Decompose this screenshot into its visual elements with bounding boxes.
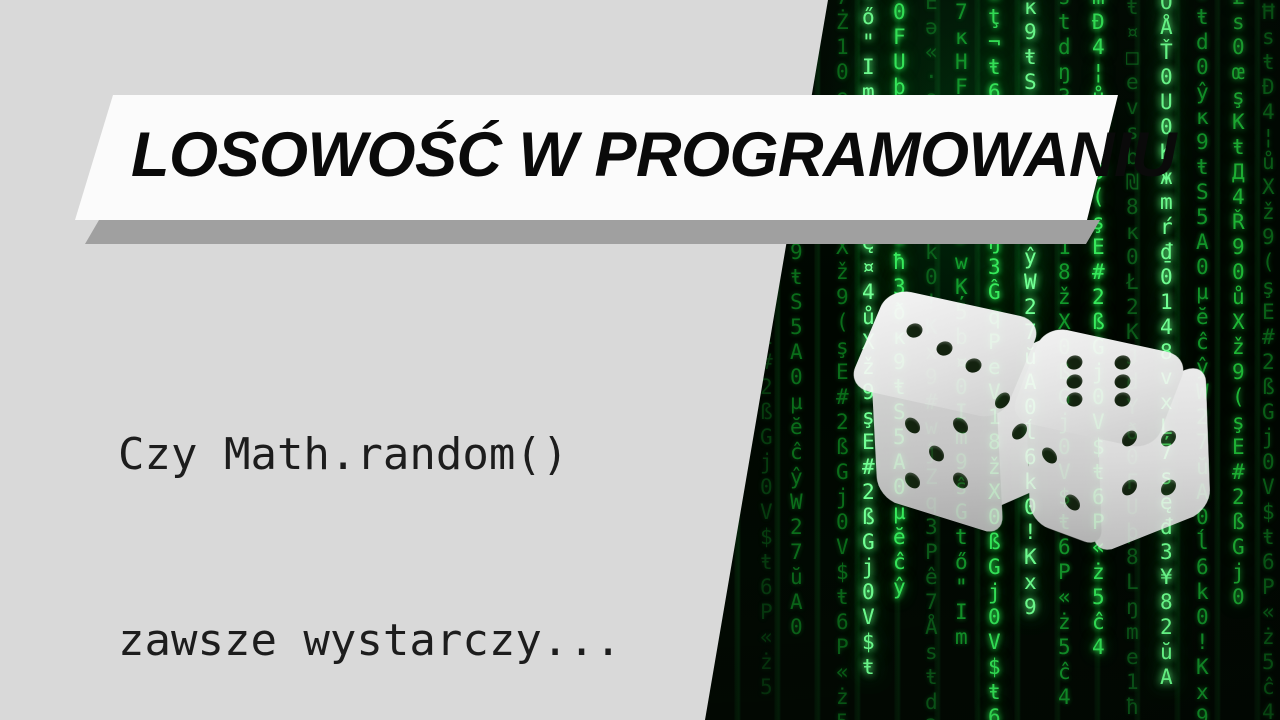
matrix-rain-column: G Ł 2 K J d Y ð 0 F U þ 8 L ŋ m e 1 ħ 3 … bbox=[893, 0, 906, 600]
matrix-rain-column: b 0 : 2 Ŏ Å Ť 0 U 0 K ж m ŕ ₫ 0 1 4 8 v … bbox=[1160, 0, 1173, 690]
subtitle-block: Czy Math.random() zawsze wystarczy... bbox=[118, 300, 621, 720]
slide-canvas: ł 7 Ż 1 0 ę K Đ 4 ¦ ů X ž 9 ( ş E # 2 ß … bbox=[0, 0, 1280, 720]
page-title: LOSOWOŚĆ W PROGRAMOWANIU bbox=[131, 112, 1071, 198]
matrix-rain-column: ê A s ŧ d 0 ŷ ĸ 9 ŧ S 5 A 0 µ ĕ ĉ ŷ W 2 … bbox=[1196, 0, 1209, 720]
matrix-rain-column: Ų D ĸ M Ħ ĸ ¥ ₤ s 0 œ ş K ŧ Д 4 Ř 9 0 ů … bbox=[1232, 0, 1245, 610]
matrix-rain-column: ê Å s ŧ d 0 ŷ ĸ 9 ŧ S 5 A 0 µ ĕ ĉ ŷ W 2 … bbox=[1024, 0, 1037, 620]
subtitle-line-1: Czy Math.random() bbox=[118, 424, 621, 486]
matrix-rain-column: ŕ ŧ ¤ □ e v s b ₪ 8 ĸ 0 Ł 2 K J d Y ð 0 … bbox=[1126, 0, 1139, 720]
subtitle-line-2: zawsze wystarczy... bbox=[118, 610, 621, 672]
matrix-rain-column: Ł 6 Ħ s ŧ Đ 4 ¦ ů X ž 9 ( ş E # 2 ß G j … bbox=[1262, 0, 1275, 720]
